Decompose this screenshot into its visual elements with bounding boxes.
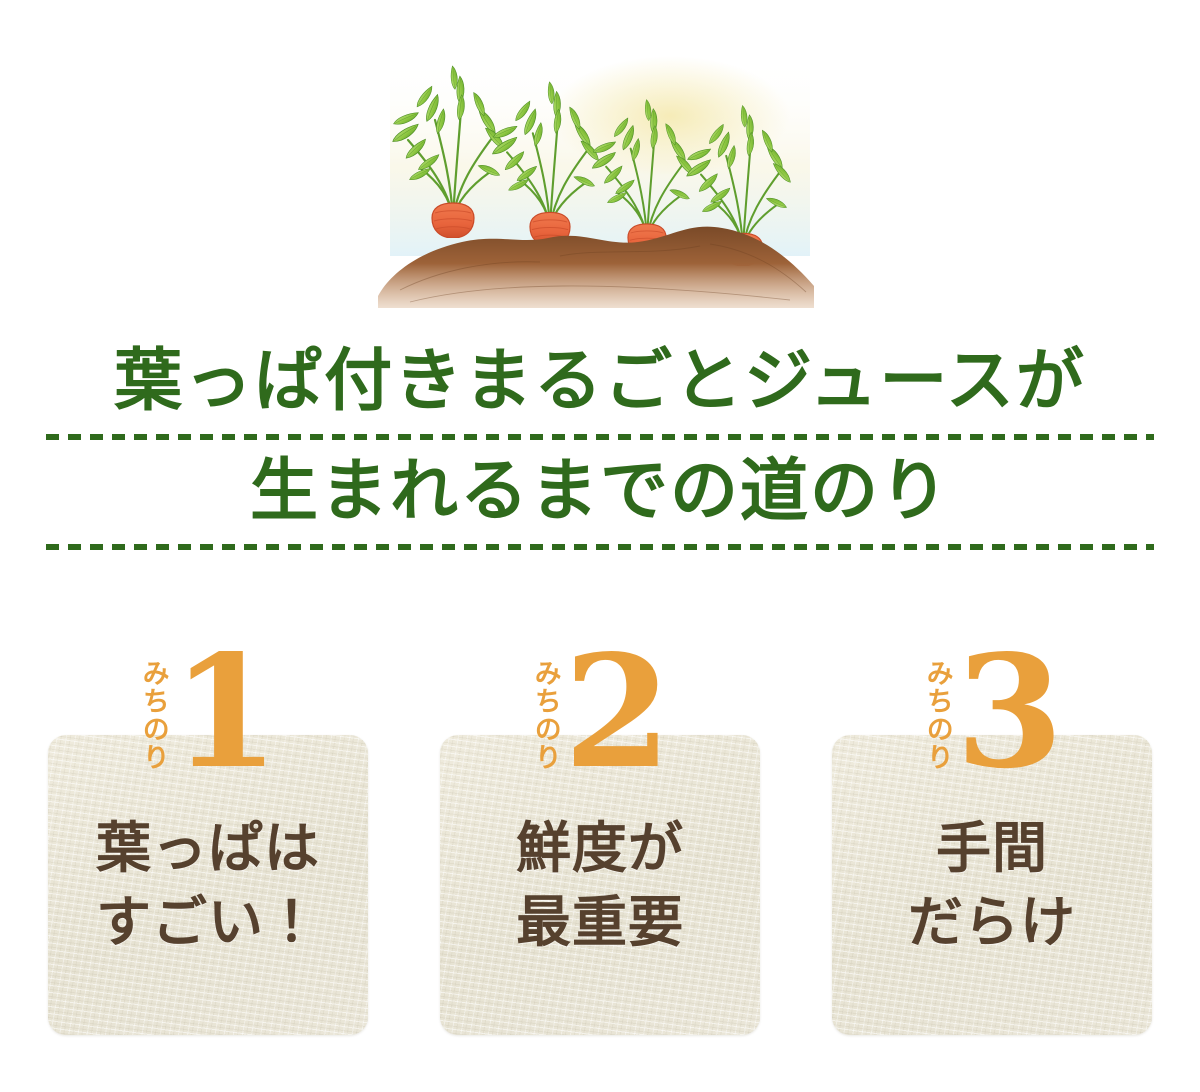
hero-illustration-container: [0, 34, 1200, 314]
heading-line-2: 生まれるまでの道のり: [0, 440, 1200, 544]
step-card-1[interactable]: みちのり 1 葉っぱは すごい！: [48, 620, 368, 1040]
step-text-1-line-1: 葉っぱは: [96, 811, 320, 885]
step-panel-3: 手間 だらけ: [832, 735, 1152, 1035]
heading-line-1: 葉っぱ付きまるごとジュースが: [0, 330, 1200, 434]
step-text-3-line-2: だらけ: [908, 885, 1076, 959]
page-heading: 葉っぱ付きまるごとジュースが 生まれるまでの道のり: [0, 330, 1200, 550]
step-panel-1: 葉っぱは すごい！: [48, 735, 368, 1035]
step-text-2-line-2: 最重要: [516, 885, 684, 959]
step-card-2[interactable]: みちのり 2 鮮度が 最重要: [440, 620, 760, 1040]
step-text-2-line-1: 鮮度が: [516, 811, 684, 885]
heading-divider-bottom: [46, 544, 1154, 550]
steps-list: みちのり 1 葉っぱは すごい！ みちのり 2 鮮度が 最重要 みちのり 3: [48, 620, 1152, 1040]
step-text-3-line-1: 手間: [936, 811, 1048, 885]
step-card-3[interactable]: みちのり 3 手間 だらけ: [832, 620, 1152, 1040]
step-text-1-line-2: すごい！: [96, 885, 320, 959]
carrots-growing-in-soil-illustration: [370, 46, 830, 314]
step-panel-2: 鮮度が 最重要: [440, 735, 760, 1035]
